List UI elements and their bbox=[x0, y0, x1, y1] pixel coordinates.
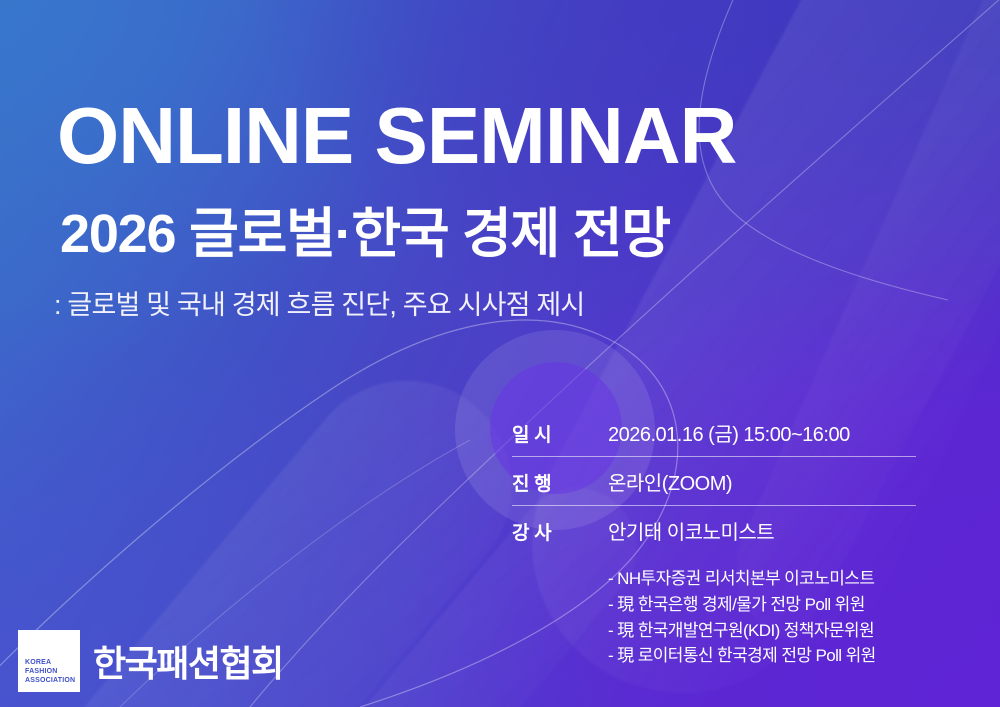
page-headline: 2026 글로벌·한국 경제 전망 bbox=[60, 205, 670, 263]
info-label-datetime: 일 시 bbox=[512, 418, 608, 447]
info-row-datetime: 일 시 2026.01.16 (금) 15:00~16:00 bbox=[512, 418, 916, 457]
kfa-logo-line-2: FASHION bbox=[25, 668, 80, 677]
credential-item: - NH투자증권 리서치본부 이코노미스트 bbox=[608, 566, 876, 592]
page-subtitle: : 글로벌 및 국내 경제 흐름 진단, 주요 시사점 제시 bbox=[54, 289, 584, 321]
info-label-speaker: 강 사 bbox=[512, 516, 608, 545]
organization-name: 한국패션협회 bbox=[93, 635, 283, 687]
info-label-platform: 진 행 bbox=[512, 467, 608, 496]
info-value-datetime: 2026.01.16 (금) 15:00~16:00 bbox=[608, 418, 850, 447]
speaker-credentials-list: - NH투자증권 리서치본부 이코노미스트 - 現 한국은행 경제/물가 전망 … bbox=[608, 566, 876, 669]
kfa-logo-mark: KOREA FASHION ASSOCIATION bbox=[18, 630, 80, 692]
kfa-logo-line-1: KOREA bbox=[25, 659, 80, 668]
info-value-platform: 온라인(ZOOM) bbox=[608, 467, 732, 496]
seminar-poster: ONLINE SEMINAR 2026 글로벌·한국 경제 전망 : 글로벌 및… bbox=[0, 0, 1000, 707]
info-row-speaker: 강 사 안기태 이코노미스트 bbox=[512, 516, 916, 545]
info-value-speaker: 안기태 이코노미스트 bbox=[608, 516, 774, 545]
organization-logo: KOREA FASHION ASSOCIATION 한국패션협회 bbox=[18, 630, 283, 692]
credential-item: - 現 한국개발연구원(KDI) 정책자문위원 bbox=[608, 618, 876, 644]
seminar-info-table: 일 시 2026.01.16 (금) 15:00~16:00 진 행 온라인(Z… bbox=[512, 418, 916, 545]
info-row-platform: 진 행 온라인(ZOOM) bbox=[512, 467, 916, 506]
credential-item: - 現 로이터통신 한국경제 전망 Poll 위원 bbox=[608, 643, 876, 669]
kfa-logo-line-3: ASSOCIATION bbox=[25, 677, 80, 686]
credential-item: - 現 한국은행 경제/물가 전망 Poll 위원 bbox=[608, 592, 876, 618]
page-title: ONLINE SEMINAR bbox=[57, 96, 736, 176]
